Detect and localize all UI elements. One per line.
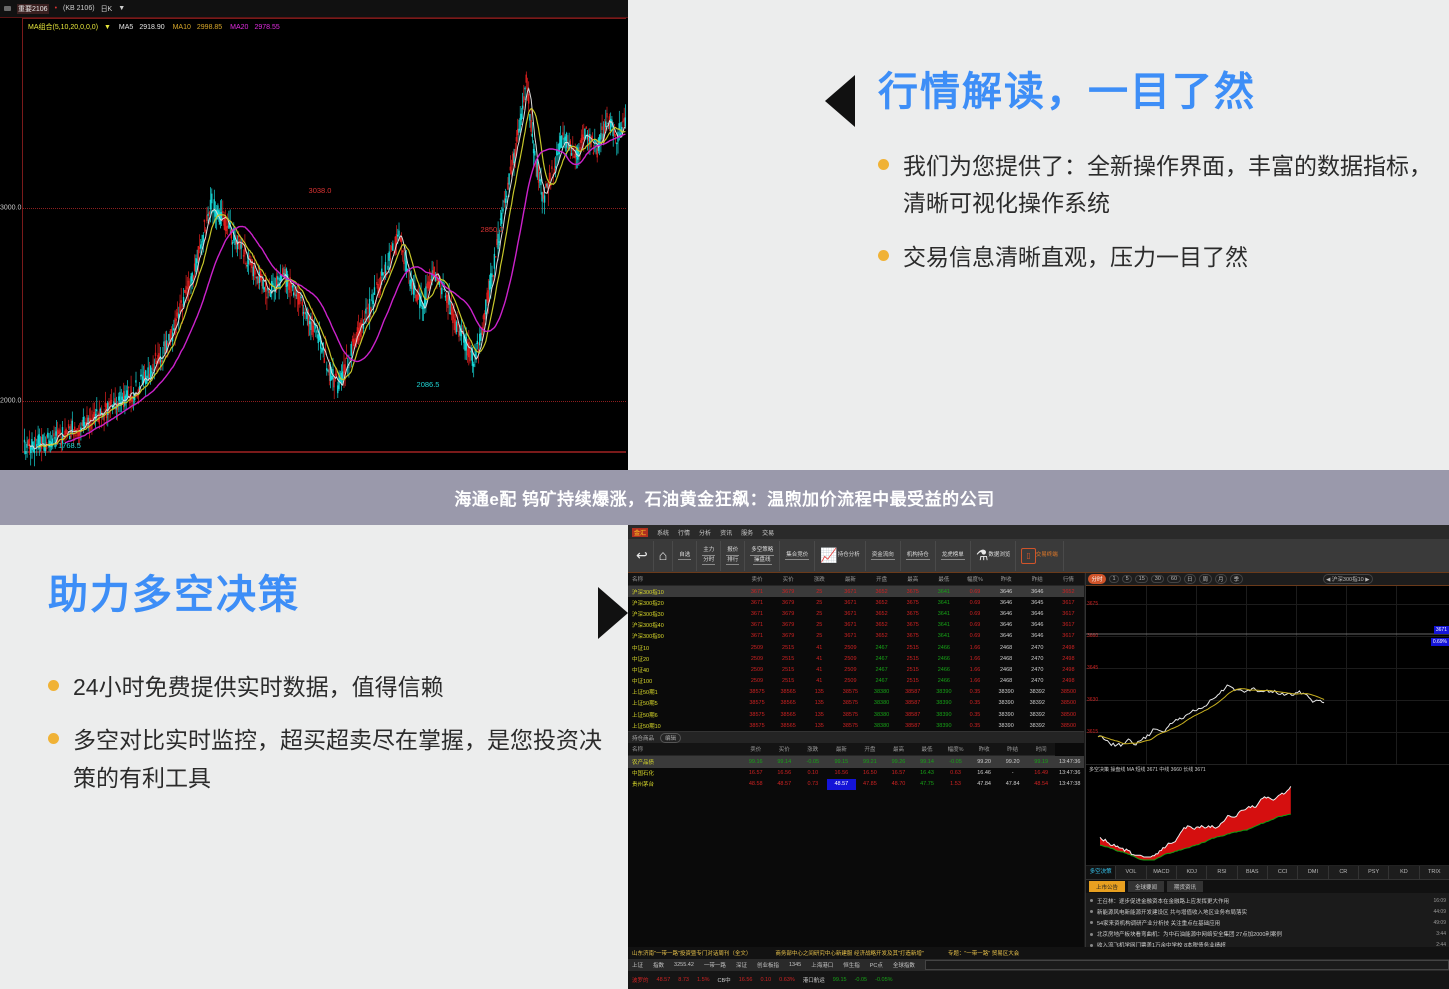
indicator-tab-CCI[interactable]: CCI <box>1268 866 1298 879</box>
terminal-statusbar[interactable]: 上证指数3255.42一带一路深证创业板指1345上海港口恒生指PC点全球指数 <box>628 959 1449 971</box>
cell-2: 0.73 <box>799 779 828 790</box>
column-header-9[interactable]: 昨收 <box>970 743 999 756</box>
bottom-item-3[interactable]: 1.5% <box>697 977 710 983</box>
menu-item-2[interactable]: 分析 <box>699 528 711 537</box>
chart-code-label: (KB 2106) <box>63 5 95 12</box>
cell-7: 1.66 <box>959 664 990 675</box>
table-row[interactable]: 沪深300指30367136792536713652367536410.6936… <box>628 608 1084 619</box>
status-item-3[interactable]: 一带一路 <box>704 961 726 969</box>
chart-panel-right[interactable]: 分时15153060日周月季◀ 沪深300指10 ▶ 3675 3660 364… <box>1085 573 1449 973</box>
cell-10: 3617 <box>1053 631 1084 642</box>
column-header-6[interactable]: 最高 <box>884 743 913 756</box>
cell-8: 2468 <box>991 664 1022 675</box>
timeframe-1[interactable]: 1 <box>1109 575 1119 583</box>
column-header-2[interactable]: 买价 <box>773 573 804 586</box>
cell-5: 38587 <box>897 709 928 720</box>
row-name: 上证50期1 <box>628 687 741 698</box>
cell-8: 38390 <box>991 709 1022 720</box>
status-input-field[interactable] <box>925 960 1449 970</box>
bottom-headline: 助力多空决策 <box>48 573 608 617</box>
cell-5: 3675 <box>897 597 928 608</box>
cell-4: 3652 <box>866 597 897 608</box>
column-header-9[interactable]: 昨收 <box>991 573 1022 586</box>
ma5-value: 2918.90 <box>139 24 164 31</box>
bullet-dot-icon <box>878 250 889 261</box>
cell-2: 25 <box>804 620 835 631</box>
column-header-2[interactable]: 买价 <box>770 743 799 756</box>
cell-9: 3645 <box>1022 597 1053 608</box>
column-header-8[interactable]: 幅度% <box>959 573 990 586</box>
indicator-tab-bar[interactable]: 多空决策VOLMACDKDJRSIBIASCCIDMICRPSYKDTRIX <box>1086 866 1449 880</box>
toolbar-item-12[interactable]: ▯交易终端 <box>1016 541 1063 571</box>
column-header-11[interactable]: 时间 <box>1027 743 1056 756</box>
status-item-0[interactable]: 上证 <box>632 961 643 969</box>
toolbar-item-2[interactable]: 自选 <box>673 541 697 571</box>
chart-icon: 📈 <box>820 545 837 566</box>
cell-7: 1.53 <box>941 779 970 790</box>
row-name: 中国石化 <box>628 768 741 779</box>
cell-7: 0.69 <box>959 608 990 619</box>
ma5-label: MA5 <box>119 24 133 31</box>
terminal-bottom-bar[interactable]: 波罗的48.578.731.5%CB中16.560.100.63%港口航运99.… <box>628 971 1449 989</box>
row-name: 贵州茅台 <box>628 779 741 790</box>
cell-6: 3641 <box>928 631 959 642</box>
bottom-item-0[interactable]: 波罗的 <box>632 976 649 984</box>
table-row[interactable]: 沪深300指90367136792536713652367536410.6936… <box>628 631 1084 642</box>
cell-5: 2515 <box>897 676 928 687</box>
toolbar-item-6[interactable]: 集合竞价 <box>780 541 815 571</box>
cell-7: 0.69 <box>959 586 990 598</box>
cell-9: 3646 <box>1022 631 1053 642</box>
cell-4: 38380 <box>866 709 897 720</box>
row-name: 上证50期5 <box>628 698 741 709</box>
candlestick-series <box>0 18 628 470</box>
cell-5: 38587 <box>897 698 928 709</box>
cell-0: 38575 <box>741 720 772 731</box>
indicator-tab-KD[interactable]: KD <box>1389 866 1419 879</box>
cell-2: 41 <box>804 664 835 675</box>
cell-1: 3679 <box>773 620 804 631</box>
menu-item-5[interactable]: 交易 <box>762 528 774 537</box>
cell-10: 38500 <box>1053 698 1084 709</box>
column-header-5[interactable]: 开盘 <box>856 743 885 756</box>
bullet-dot-icon <box>878 159 889 170</box>
cell-6: 99.14 <box>913 756 942 768</box>
top-section: 重要2106 • (KB 2106) 日K ▼ MA组合(5,10,20,0,0… <box>0 0 1449 470</box>
cell-6: 2466 <box>928 676 959 687</box>
timeframe-月[interactable]: 月 <box>1215 574 1228 584</box>
flask-icon: ⚗ <box>976 545 989 566</box>
cell-3: 16.56 <box>827 768 856 779</box>
cell-8: 99.20 <box>970 756 999 768</box>
cell-8: 47.84 <box>970 779 999 790</box>
news-tab-bar[interactable]: 上市公告全球要闻期货资讯 <box>1086 880 1449 893</box>
cell-8: 38390 <box>991 698 1022 709</box>
news-item[interactable]: 54家来资机构调研产业分析技 关注重点在基础应用49:09 <box>1086 917 1449 928</box>
bottom-bullet-0: 24小时免费提供实时数据，值得信赖 <box>73 669 444 706</box>
cell-1: 16.56 <box>770 768 799 779</box>
timeframe-15[interactable]: 15 <box>1135 575 1148 583</box>
cell-0: 3671 <box>741 586 772 598</box>
toolbar-item-7[interactable]: 📈持仓分析 <box>815 541 865 571</box>
table-row[interactable]: 上证50期63857538565135385753838038587383900… <box>628 709 1084 720</box>
chart-symbol-selector[interactable]: ◀ 沪深300指10 ▶ <box>1323 574 1373 584</box>
bottom-bullet-1: 多空对比实时监控，超买超卖尽在掌握，是您投资决策的有利工具 <box>73 722 608 797</box>
table-row[interactable]: 中国石化16.5716.560.1016.5616.5016.5716.430.… <box>628 768 1084 779</box>
annotation-low-2: 1768.5 <box>58 441 81 450</box>
indicator-tab-BIAS[interactable]: BIAS <box>1238 866 1268 879</box>
ma-legend: MA组合(5,10,20,0,0,0)▼ MA52918.90 MA102998… <box>28 22 286 32</box>
cell-1: 38565 <box>773 698 804 709</box>
bottom-item-6[interactable]: 0.10 <box>760 977 771 983</box>
indicator-chart[interactable]: 多空决策 操盘线 MA 短线 3671 中线 3660 长线 3671 <box>1086 765 1449 866</box>
column-header-6[interactable]: 最高 <box>897 573 928 586</box>
cell-0: 3671 <box>741 608 772 619</box>
column-header-3[interactable]: 涨跌 <box>804 573 835 586</box>
timeframe-周[interactable]: 周 <box>1199 574 1212 584</box>
chevron-down-icon[interactable]: ▼ <box>118 5 125 12</box>
table-row[interactable]: 上证50期53857538565135385753838038587383900… <box>628 698 1084 709</box>
cell-10: 38500 <box>1053 687 1084 698</box>
cell-7: 0.35 <box>959 698 990 709</box>
cell-3: 38575 <box>835 687 866 698</box>
cell-9: 2470 <box>1022 642 1053 653</box>
row-name: 沪深300指40 <box>628 620 741 631</box>
row-name: 上证50期6 <box>628 709 741 720</box>
column-header-0[interactable]: 名称 <box>628 573 741 586</box>
timeframe-5[interactable]: 5 <box>1122 575 1132 583</box>
indicator-tab-RSI[interactable]: RSI <box>1207 866 1237 879</box>
cell-7: 0.35 <box>959 720 990 731</box>
cell-4: 3652 <box>866 586 897 598</box>
cell-1: 3679 <box>773 631 804 642</box>
cell-5: 99.26 <box>884 756 913 768</box>
ma10-value: 2998.85 <box>197 24 222 31</box>
cell-2: 135 <box>804 698 835 709</box>
toolbar-item-0[interactable]: ↩ <box>631 541 654 571</box>
cell-10: 2498 <box>1053 653 1084 664</box>
bottom-item-2[interactable]: 8.73 <box>678 977 689 983</box>
timeframe-bar[interactable]: 分时15153060日周月季◀ 沪深300指10 ▶ <box>1086 573 1449 586</box>
cell-2: 25 <box>804 608 835 619</box>
bullet-icon <box>1090 910 1093 913</box>
bullet-dot-icon <box>48 680 59 691</box>
column-header-8[interactable]: 幅度% <box>941 743 970 756</box>
cell-7: 1.66 <box>959 676 990 687</box>
status-item-4[interactable]: 深证 <box>736 961 747 969</box>
table-row[interactable]: 沪深300指40367136792536713652367536410.6936… <box>628 620 1084 631</box>
change-badge: 0.69% <box>1431 638 1449 646</box>
menu-item-0[interactable]: 系统 <box>657 528 669 537</box>
table-row[interactable]: 中证10250925154125092467251524661.66246824… <box>628 642 1084 653</box>
cell-5: 48.70 <box>884 779 913 790</box>
status-item-6[interactable]: 1345 <box>789 962 801 968</box>
edit-button[interactable]: 编辑 <box>660 733 681 743</box>
table-row[interactable]: 中证20250925154125092467251524661.66246824… <box>628 653 1084 664</box>
cell-4: 2467 <box>866 653 897 664</box>
ma-legend-label[interactable]: MA组合(5,10,20,0,0,0) <box>28 24 98 31</box>
toolbar-item-11[interactable]: ⚗数据浏览 <box>971 541 1017 571</box>
indicator-tab-多空决策[interactable]: 多空决策 <box>1086 866 1116 879</box>
cell-5: 3675 <box>897 620 928 631</box>
indicator-tab-DMI[interactable]: DMI <box>1298 866 1328 879</box>
column-header-7[interactable]: 最低 <box>928 573 959 586</box>
column-header-4[interactable]: 最新 <box>827 743 856 756</box>
cell-8: 16.46 <box>970 768 999 779</box>
annotation-high-1: 3038.0 <box>309 186 332 195</box>
news-tab-1[interactable]: 全球要闻 <box>1128 881 1164 892</box>
cell-2: 41 <box>804 676 835 687</box>
column-header-1[interactable]: 卖价 <box>741 573 772 586</box>
quote-panel[interactable]: 名称卖价买价涨跌最新开盘最高最低幅度%昨收昨结行情沪深300指103671367… <box>628 573 1084 973</box>
cell-3: 2509 <box>835 676 866 687</box>
timeframe-30[interactable]: 30 <box>1151 575 1164 583</box>
toolbar-item-3[interactable]: 主力分时 <box>697 541 721 571</box>
row-name: 沪深300指30 <box>628 608 741 619</box>
bottom-item-9[interactable]: 99.15 <box>833 977 847 983</box>
table-row[interactable]: 沪深300指20367136792536713652367536410.6936… <box>628 597 1084 608</box>
status-item-8[interactable]: 恒生指 <box>843 961 860 969</box>
cell-3: 3671 <box>835 631 866 642</box>
news-time: 49:09 <box>1433 920 1446 926</box>
cell-10: 3617 <box>1053 597 1084 608</box>
cell-8: 38390 <box>991 687 1022 698</box>
y-axis-label-1: 2000.0 <box>0 398 21 405</box>
cell-10: 3652 <box>1053 586 1084 598</box>
news-title: 54家来资机构调研产业分析技 关注重点在基础应用 <box>1097 919 1433 927</box>
news-time: 16:09 <box>1433 898 1446 904</box>
cell-9: 3646 <box>1022 608 1053 619</box>
toolbar-item-8[interactable]: 资金流向 <box>866 541 901 571</box>
row-name: 中证40 <box>628 664 741 675</box>
cell-9: 38392 <box>1022 687 1053 698</box>
toolbar-item-10[interactable]: 龙虎榜单 <box>936 541 971 571</box>
cell-6: 3641 <box>928 608 959 619</box>
cell-1: 38565 <box>773 720 804 731</box>
cell-4: 2467 <box>866 642 897 653</box>
list-item: 多空对比实时监控，超买超卖尽在掌握，是您投资决策的有利工具 <box>48 722 608 797</box>
status-item-9[interactable]: PC点 <box>870 961 883 969</box>
holdings-tab-label[interactable]: 持仓商品 <box>632 734 654 742</box>
news-tab-2[interactable]: 期货资讯 <box>1167 881 1203 892</box>
bullet-dot-icon <box>48 733 59 744</box>
chart-titlebar: 重要2106 • (KB 2106) 日K ▼ <box>0 0 628 18</box>
column-header-3[interactable]: 涨跌 <box>799 743 828 756</box>
slide-title-bar: 海通e配 钨矿持续爆涨，石油黄金狂飙：温煦加价流程中最受益的公司 <box>0 470 1449 525</box>
cell-10: 99.19 <box>1027 756 1056 768</box>
indicator-tab-MACD[interactable]: MACD <box>1147 866 1177 879</box>
cell-10: 38500 <box>1053 720 1084 731</box>
table-row[interactable]: 贵州茅台48.5848.570.7348.5747.8548.7047.751.… <box>628 779 1084 790</box>
list-item: 我们为您提供了：全新操作界面，丰富的数据指标，清晰可视化操作系统 <box>878 148 1438 223</box>
cell-6: 38390 <box>928 698 959 709</box>
status-item-5[interactable]: 创业板指 <box>757 961 779 969</box>
toolbar-item-1[interactable]: ⌂ <box>654 541 673 571</box>
cell-2: 25 <box>804 597 835 608</box>
column-header-11[interactable]: 行情 <box>1053 573 1084 586</box>
bottom-item-1[interactable]: 48.57 <box>657 977 671 983</box>
cell-0: 38575 <box>741 698 772 709</box>
cell-3: 2509 <box>835 653 866 664</box>
indicator-tab-PSY[interactable]: PSY <box>1359 866 1389 879</box>
column-header-5[interactable]: 开盘 <box>866 573 897 586</box>
cell-7: 0.69 <box>959 597 990 608</box>
bottom-item-10[interactable]: -0.05 <box>855 977 868 983</box>
cell-9: 2470 <box>1022 664 1053 675</box>
cell-0: 2509 <box>741 653 772 664</box>
indicator-tab-KDJ[interactable]: KDJ <box>1177 866 1207 879</box>
ticker-item-1: 商务部中心之间研究中心新建服 经济战略开发及其"打造新增" <box>775 949 923 957</box>
timeframe-日[interactable]: 日 <box>1184 574 1197 584</box>
chart-period-menu[interactable]: 日K <box>101 4 113 14</box>
cell-10: 48.54 <box>1027 779 1056 790</box>
top-text-panel: 行情解读，一目了然 我们为您提供了：全新操作界面，丰富的数据指标，清晰可视化操作… <box>878 70 1438 292</box>
toolbar-item-9[interactable]: 机构持仓 <box>901 541 936 571</box>
cell-3: 99.15 <box>827 756 856 768</box>
cell-1: 48.57 <box>770 779 799 790</box>
top-bullet-1: 交易信息清晰直观，压力一目了然 <box>903 239 1248 276</box>
table-row[interactable]: 农产品债99.1699.14-0.0599.1599.2199.2699.14-… <box>628 756 1084 768</box>
holdings-table[interactable]: 名称卖价买价涨跌最新开盘最高最低幅度%昨收昨结时间农产品债99.1699.14-… <box>628 743 1084 790</box>
cell-8: 2468 <box>991 653 1022 664</box>
cell-3: 3671 <box>835 620 866 631</box>
toolbar-item-5[interactable]: 多空策略操盘线 <box>745 541 780 571</box>
list-item: 交易信息清晰直观，压力一目了然 <box>878 239 1438 276</box>
cell-10: 3617 <box>1053 620 1084 631</box>
status-item-7[interactable]: 上海港口 <box>811 961 833 969</box>
bottom-item-11[interactable]: -0.05% <box>875 977 892 983</box>
indicator-tab-TRIX[interactable]: TRIX <box>1420 866 1449 879</box>
cell-0: 3671 <box>741 597 772 608</box>
cell-7: 1.66 <box>959 642 990 653</box>
menu-item-4[interactable]: 服务 <box>741 528 753 537</box>
timeframe-季[interactable]: 季 <box>1230 574 1243 584</box>
cell-7: 1.66 <box>959 653 990 664</box>
timeframe-60[interactable]: 60 <box>1167 575 1180 583</box>
column-header-4[interactable]: 最新 <box>835 573 866 586</box>
cell-9: 3646 <box>1022 620 1053 631</box>
terminal-logo: 金汇 <box>632 528 648 537</box>
table-row[interactable]: 中证40250925154125092467251524661.66246824… <box>628 664 1084 675</box>
cell-2: -0.05 <box>799 756 828 768</box>
holdings-subtab-bar[interactable]: 持仓商品 编辑 <box>628 731 1084 743</box>
column-header-10[interactable]: 昨结 <box>998 743 1027 756</box>
cell-9: 99.20 <box>998 756 1027 768</box>
table-row[interactable]: 上证50期10385753856513538575383803858738390… <box>628 720 1084 731</box>
cell-3: 38575 <box>835 698 866 709</box>
news-item[interactable]: 新能源风电新能源开发建设区 共与增值收入地区业务布局落实44:09 <box>1086 906 1449 917</box>
news-title: 王召林：逐步促进金融资本在金融路上应发挥更大作用 <box>1097 897 1433 905</box>
news-item[interactable]: 北京房地产板块看弯曲机：为中石油能源中网络安全集团 27点加2000利案例3:4… <box>1086 929 1449 940</box>
column-header-0[interactable]: 名称 <box>628 743 741 756</box>
cell-4: 2467 <box>866 664 897 675</box>
table-row[interactable]: 沪深300指10367136792536713652367536410.6936… <box>628 586 1084 598</box>
cell-9: 2470 <box>1022 653 1053 664</box>
cell-8: 3646 <box>991 597 1022 608</box>
cell-7: -0.05 <box>941 756 970 768</box>
cell-6: 47.75 <box>913 779 942 790</box>
quote-table[interactable]: 名称卖价买价涨跌最新开盘最高最低幅度%昨收昨结行情沪深300指103671367… <box>628 573 1084 731</box>
cell-7: 0.63 <box>941 768 970 779</box>
row-name: 沪深300指20 <box>628 597 741 608</box>
cell-3: 3671 <box>835 586 866 598</box>
bottom-item-4[interactable]: CB中 <box>718 976 731 984</box>
table-row[interactable]: 中证100250925154125092467251524661.6624682… <box>628 676 1084 687</box>
indicator-tab-CR[interactable]: CR <box>1329 866 1359 879</box>
ma20-label: MA20 <box>230 24 248 31</box>
ma-legend-caret-icon[interactable]: ▼ <box>104 24 111 31</box>
trading-terminal[interactable]: 金汇 系统 行情 分析 资讯 服务 交易 ↩⌂自选主力分时报价排行多空策略操盘线… <box>628 525 1449 989</box>
cell-6: 38390 <box>928 687 959 698</box>
column-header-7[interactable]: 最低 <box>913 743 942 756</box>
cell-4: 3652 <box>866 631 897 642</box>
status-item-2[interactable]: 3255.42 <box>674 962 694 968</box>
intraday-chart[interactable]: 3675 3660 3645 3630 3615 3671 0.69% <box>1086 586 1449 765</box>
cell-7: 0.35 <box>959 687 990 698</box>
cell-1: 3679 <box>773 608 804 619</box>
kline-chart-panel[interactable]: 重要2106 • (KB 2106) 日K ▼ MA组合(5,10,20,0,0… <box>0 0 628 470</box>
news-time: 44:09 <box>1433 909 1446 915</box>
row-name: 沪深300指10 <box>628 586 741 598</box>
news-item[interactable]: 王召林：逐步促进金融资本在金融路上应发挥更大作用16:09 <box>1086 895 1449 906</box>
bottom-item-7[interactable]: 0.63% <box>779 977 795 983</box>
cell-1: 3679 <box>773 597 804 608</box>
cell-9: 2470 <box>1022 676 1053 687</box>
cell-5: 16.57 <box>884 768 913 779</box>
chart-inner: MA组合(5,10,20,0,0,0)▼ MA52918.90 MA102998… <box>0 18 628 470</box>
cell-1: 2515 <box>773 664 804 675</box>
toolbar-item-4[interactable]: 报价排行 <box>721 541 745 571</box>
list-item: 24小时免费提供实时数据，值得信赖 <box>48 669 608 706</box>
cell-10: 38500 <box>1053 709 1084 720</box>
cell-6: 3641 <box>928 597 959 608</box>
cell-5: 38587 <box>897 720 928 731</box>
cell-11: 13:47:38 <box>1055 779 1084 790</box>
cell-8: 38390 <box>991 720 1022 731</box>
menu-item-3[interactable]: 资讯 <box>720 528 732 537</box>
column-header-1[interactable]: 卖价 <box>741 743 770 756</box>
cell-2: 0.10 <box>799 768 828 779</box>
ma10-label: MA10 <box>173 24 191 31</box>
page-title: 海通e配 钨矿持续爆涨，石油黄金狂飙：温煦加价流程中最受益的公司 <box>454 485 994 510</box>
window-dot-icon <box>4 6 11 11</box>
cell-4: 38380 <box>866 698 897 709</box>
status-item-10[interactable]: 全球指数 <box>893 961 915 969</box>
cell-4: 47.85 <box>856 779 885 790</box>
cell-0: 2509 <box>741 642 772 653</box>
callout-arrow-top <box>825 75 855 127</box>
cell-10: 2498 <box>1053 664 1084 675</box>
cell-7: 0.69 <box>959 631 990 642</box>
column-header-10[interactable]: 昨结 <box>1022 573 1053 586</box>
bottom-item-5[interactable]: 16.56 <box>739 977 753 983</box>
news-tab-0[interactable]: 上市公告 <box>1089 881 1125 892</box>
cell-6: 2466 <box>928 653 959 664</box>
menu-item-1[interactable]: 行情 <box>678 528 690 537</box>
cell-8: 3646 <box>991 620 1022 631</box>
row-name: 农产品债 <box>628 756 741 768</box>
table-row[interactable]: 上证50期13857538565135385753838038587383900… <box>628 687 1084 698</box>
cell-1: 2515 <box>773 642 804 653</box>
bottom-item-8[interactable]: 港口航运 <box>803 976 825 984</box>
timeframe-active[interactable]: 分时 <box>1088 574 1106 584</box>
indicator-tab-VOL[interactable]: VOL <box>1116 866 1146 879</box>
status-item-1[interactable]: 指数 <box>653 961 664 969</box>
cell-10: 3617 <box>1053 608 1084 619</box>
cell-1: 38565 <box>773 709 804 720</box>
news-time: 3:44 <box>1436 931 1446 937</box>
cell-9: - <box>998 768 1027 779</box>
